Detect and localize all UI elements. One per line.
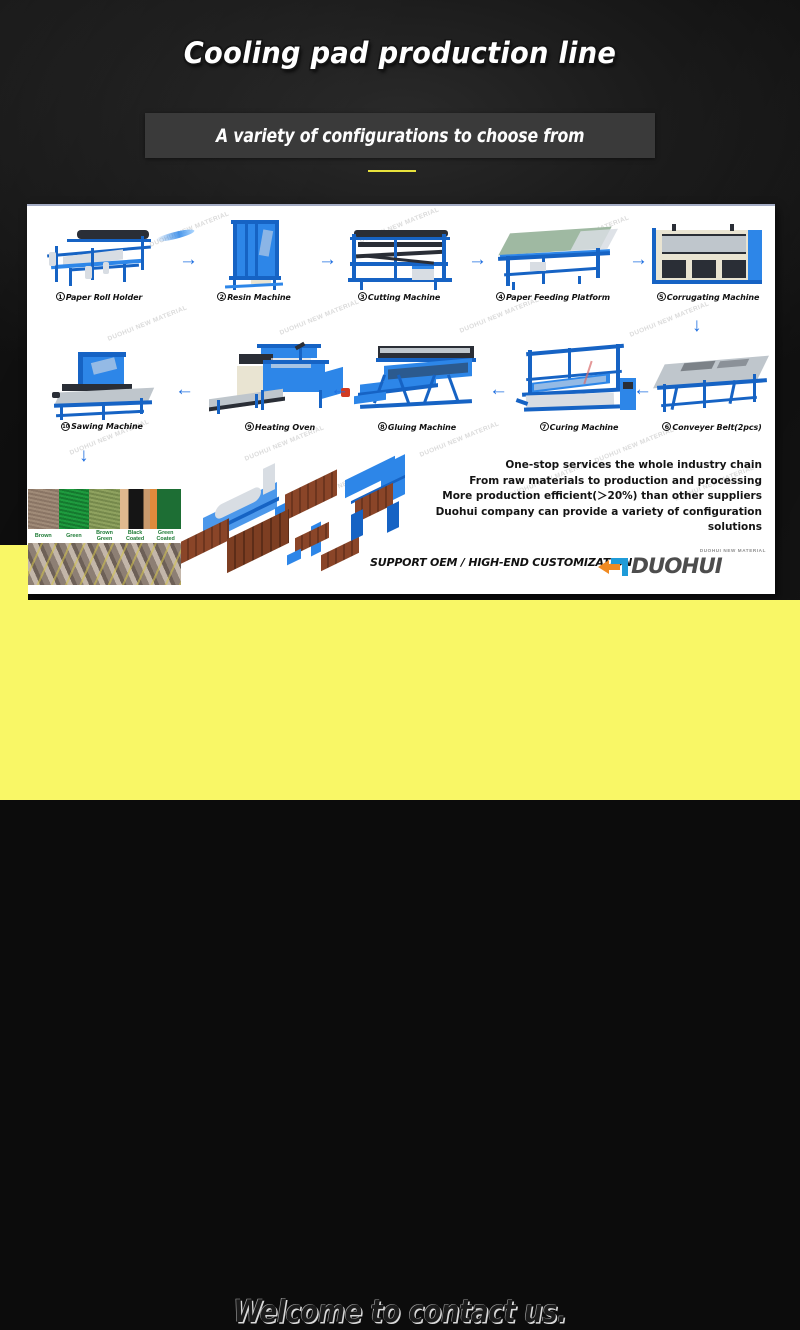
machine-cell: 6Conveyer Belt(2pcs) bbox=[649, 350, 775, 432]
pad-stack bbox=[321, 537, 359, 572]
machine-label: Curing Machine bbox=[550, 423, 619, 432]
watermark: DUOHUI NEW MATERIAL bbox=[459, 296, 541, 334]
machine-label: Paper Feeding Platform bbox=[506, 293, 610, 302]
machine-cell: 1Paper Roll Holder bbox=[35, 222, 163, 302]
copy-line: From raw materials to production and pro… bbox=[398, 474, 762, 490]
swatch-label: Black Coated bbox=[120, 530, 151, 542]
copy-line: More production efficient(＞20%) than oth… bbox=[398, 489, 762, 505]
card-top-border bbox=[27, 204, 775, 206]
flow-arrow-down: ↓ bbox=[79, 446, 89, 465]
copy-line: Duohui company can provide a variety of … bbox=[398, 505, 762, 536]
logo-tagline: DUOHUI NEW MATERIAL bbox=[700, 548, 766, 553]
swatch-brown bbox=[28, 489, 59, 529]
resin-machine-illustration bbox=[199, 218, 309, 292]
swatch-brown-green bbox=[89, 489, 120, 529]
page-title: Cooling pad production line bbox=[24, 36, 776, 70]
logo-wordmark: DUOHUI bbox=[631, 554, 722, 578]
footer-section: Welcome to contact us. bbox=[0, 600, 800, 800]
cutting-machine-illustration bbox=[337, 222, 461, 292]
step-number: 4 bbox=[496, 292, 505, 301]
step-number: 6 bbox=[662, 422, 671, 431]
curing-machine-illustration bbox=[507, 344, 651, 422]
flow-arrow-right: → bbox=[179, 250, 198, 269]
welcome-message: Welcome to contact us. bbox=[28, 1294, 772, 1330]
swatch-green bbox=[59, 489, 90, 529]
machine-caption: 6Conveyer Belt(2pcs) bbox=[649, 422, 775, 432]
company-logo: DUOHUI NEW MATERIAL DUOHUI bbox=[598, 548, 768, 582]
machine-caption: 8Gluing Machine bbox=[349, 422, 485, 432]
logo-mark-icon bbox=[598, 556, 632, 578]
pad-stack bbox=[285, 469, 337, 520]
machine-caption: 4Paper Feeding Platform bbox=[485, 292, 621, 302]
watermark: DUOHUI NEW MATERIAL bbox=[107, 304, 189, 342]
cooling-pad-photo bbox=[28, 543, 181, 585]
machine-caption: 10Sawing Machine bbox=[39, 422, 165, 431]
machine-cell: 3Cutting Machine bbox=[337, 222, 461, 302]
machine-label: Sawing Machine bbox=[71, 422, 143, 431]
yellow-accent-block bbox=[0, 545, 28, 600]
machine-cell: 5Corrugating Machine bbox=[645, 222, 771, 302]
flow-arrow-right: → bbox=[318, 250, 337, 269]
step-number: 7 bbox=[540, 422, 549, 431]
machine-label: Resin Machine bbox=[227, 293, 291, 302]
swatch-colors bbox=[28, 489, 181, 529]
swatch-labels: Brown Green Brown Green Black Coated Gre… bbox=[28, 529, 181, 543]
hero-section: Cooling pad production line A variety of… bbox=[0, 0, 800, 600]
swatch-label: Green bbox=[59, 533, 90, 539]
machine-label: Corrugating Machine bbox=[667, 293, 760, 302]
gluing-machine-illustration bbox=[349, 344, 485, 422]
machine-cell: 4Paper Feeding Platform bbox=[485, 224, 621, 302]
subtitle-banner: A variety of configurations to choose fr… bbox=[145, 113, 655, 158]
machine-label: Cutting Machine bbox=[368, 293, 440, 302]
step-number: 3 bbox=[358, 292, 367, 301]
machine-label: Conveyer Belt(2pcs) bbox=[672, 423, 761, 432]
production-line-diagram: DUOHUI NEW MATERIAL DUOHUI NEW MATERIAL … bbox=[27, 204, 775, 594]
machine-caption: 2Resin Machine bbox=[199, 292, 309, 302]
machine-cell: 10Sawing Machine bbox=[39, 350, 165, 431]
flow-arrow-left: ← bbox=[175, 380, 194, 399]
accent-divider bbox=[368, 170, 416, 172]
step-number: 9 bbox=[245, 422, 254, 431]
machine-cell: 7Curing Machine bbox=[507, 344, 651, 432]
machine-caption: 1Paper Roll Holder bbox=[35, 292, 163, 302]
step-number: 5 bbox=[657, 292, 666, 301]
copy-line: One-stop services the whole industry cha… bbox=[398, 458, 762, 474]
subtitle-text: A variety of configurations to choose fr… bbox=[216, 125, 584, 147]
paper-roll-holder-illustration bbox=[35, 222, 163, 292]
flow-arrow-down: ↓ bbox=[692, 316, 702, 335]
machine-label: Gluing Machine bbox=[388, 423, 456, 432]
step-number: 8 bbox=[378, 422, 387, 431]
machine-caption: 7Curing Machine bbox=[507, 422, 651, 432]
swatch-label: Brown bbox=[28, 533, 59, 539]
machine-cell: 8Gluing Machine bbox=[349, 344, 485, 432]
step-number: 10 bbox=[61, 422, 70, 431]
swatch-label: Brown Green bbox=[89, 530, 120, 542]
machine-label: Heating Oven bbox=[255, 423, 315, 432]
machine-label: Paper Roll Holder bbox=[66, 293, 143, 302]
sawing-machine-illustration bbox=[39, 350, 165, 422]
corrugating-machine-illustration bbox=[645, 222, 771, 292]
oem-tagline: SUPPORT OEM / HIGH-END CUSTOMIZATION bbox=[370, 556, 632, 569]
conveyer-belt-illustration bbox=[649, 350, 775, 422]
flow-arrow-left: ← bbox=[330, 380, 349, 399]
machine-caption: 3Cutting Machine bbox=[337, 292, 461, 302]
paper-feeding-platform-illustration bbox=[485, 224, 621, 292]
machine-caption: 9Heating Oven bbox=[195, 422, 365, 432]
step-number: 2 bbox=[217, 292, 226, 301]
machine-cell: 2Resin Machine bbox=[199, 218, 309, 302]
swatch-black-coated bbox=[120, 489, 151, 529]
marketing-copy: One-stop services the whole industry cha… bbox=[398, 458, 762, 536]
machine-caption: 5Corrugating Machine bbox=[645, 292, 771, 302]
watermark: DUOHUI NEW MATERIAL bbox=[279, 298, 361, 336]
color-swatch-panel: Brown Green Brown Green Black Coated Gre… bbox=[28, 489, 181, 585]
step-number: 1 bbox=[56, 292, 65, 301]
flow-arrow-left: ← bbox=[489, 380, 508, 399]
